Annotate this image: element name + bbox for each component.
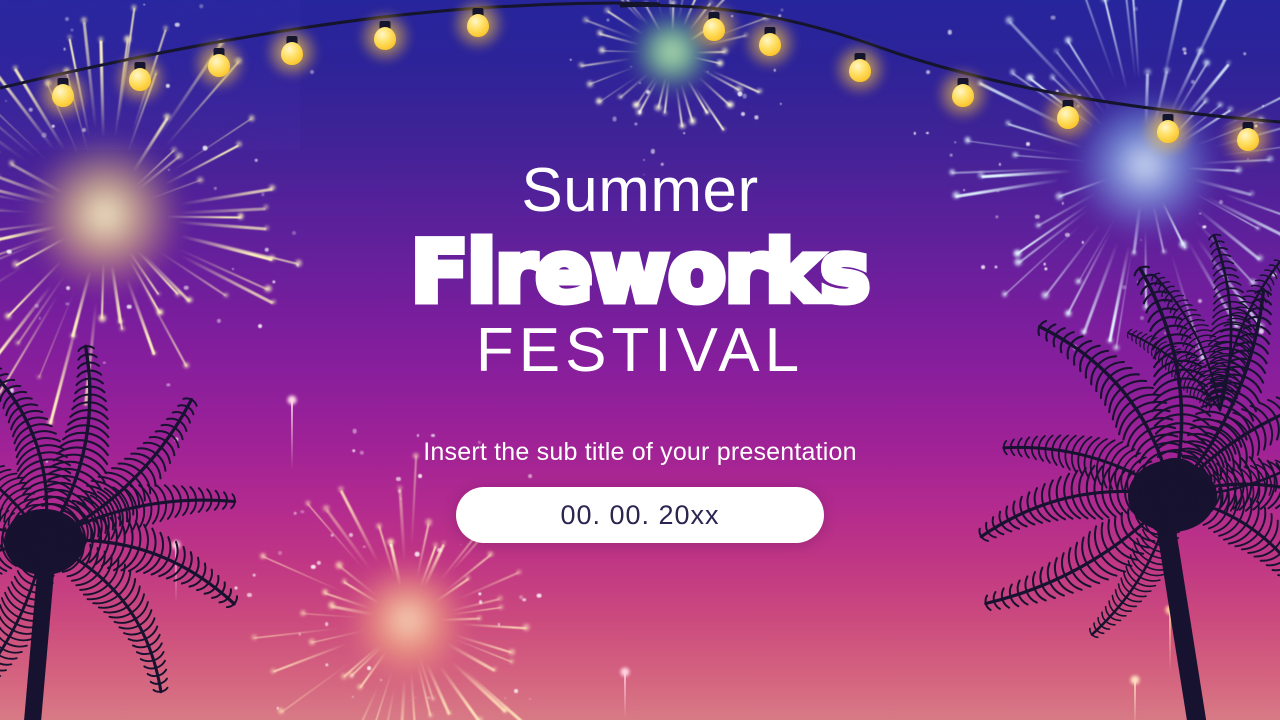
title-line-summer: Summer (521, 160, 758, 222)
date-pill[interactable]: 00. 00. 20xx (456, 487, 824, 543)
date-text: 00. 00. 20xx (560, 500, 719, 531)
title-line-fireworks: Fireworks (411, 228, 869, 316)
title-line-festival: FESTIVAL (476, 320, 804, 382)
slide-content: Summer Fireworks FESTIVAL Insert the sub… (0, 0, 1280, 720)
subtitle-text: Insert the sub title of your presentatio… (423, 438, 856, 467)
presentation-slide: Summer Fireworks FESTIVAL Insert the sub… (0, 0, 1280, 720)
